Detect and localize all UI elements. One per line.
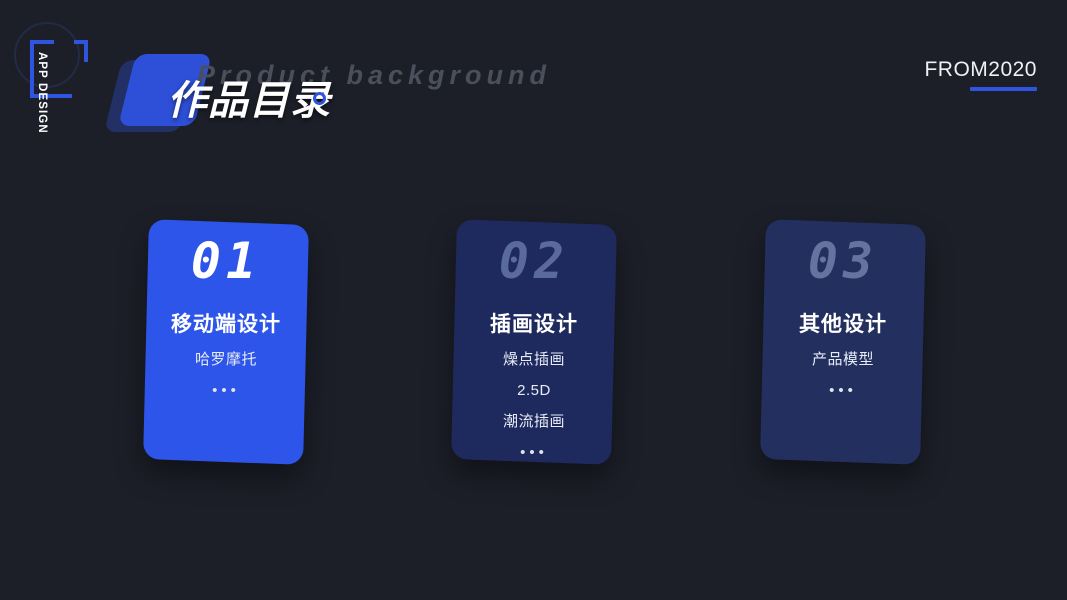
catalog-card-02[interactable]: 02 插画设计 燥点插画 2.5D 潮流插画 ••• — [451, 219, 617, 465]
card-line: 2.5D — [517, 383, 551, 398]
card-line: 哈罗摩托 — [195, 352, 257, 367]
card-title: 移动端设计 — [171, 308, 281, 338]
catalog-card-list: 01 移动端设计 哈罗摩托 ••• 02 插画设计 燥点插画 2.5D 潮流插画… — [0, 0, 1067, 600]
card-number: 01 — [191, 236, 261, 286]
card-title: 其他设计 — [799, 308, 887, 338]
card-line: 燥点插画 — [503, 352, 565, 367]
card-ellipsis: ••• — [212, 383, 240, 398]
card-number: 03 — [808, 236, 878, 286]
card-lines: 产品模型 ••• — [812, 352, 874, 398]
card-ellipsis: ••• — [829, 383, 857, 398]
catalog-card-03[interactable]: 03 其他设计 产品模型 ••• — [760, 219, 926, 465]
card-line: 潮流插画 — [503, 414, 565, 429]
card-title: 插画设计 — [490, 308, 578, 338]
card-ellipsis: ••• — [520, 445, 548, 460]
card-lines: 哈罗摩托 ••• — [195, 352, 257, 398]
card-number: 02 — [499, 236, 569, 286]
card-lines: 燥点插画 2.5D 潮流插画 ••• — [503, 352, 565, 460]
card-line: 产品模型 — [812, 352, 874, 367]
catalog-card-01[interactable]: 01 移动端设计 哈罗摩托 ••• — [143, 219, 309, 465]
